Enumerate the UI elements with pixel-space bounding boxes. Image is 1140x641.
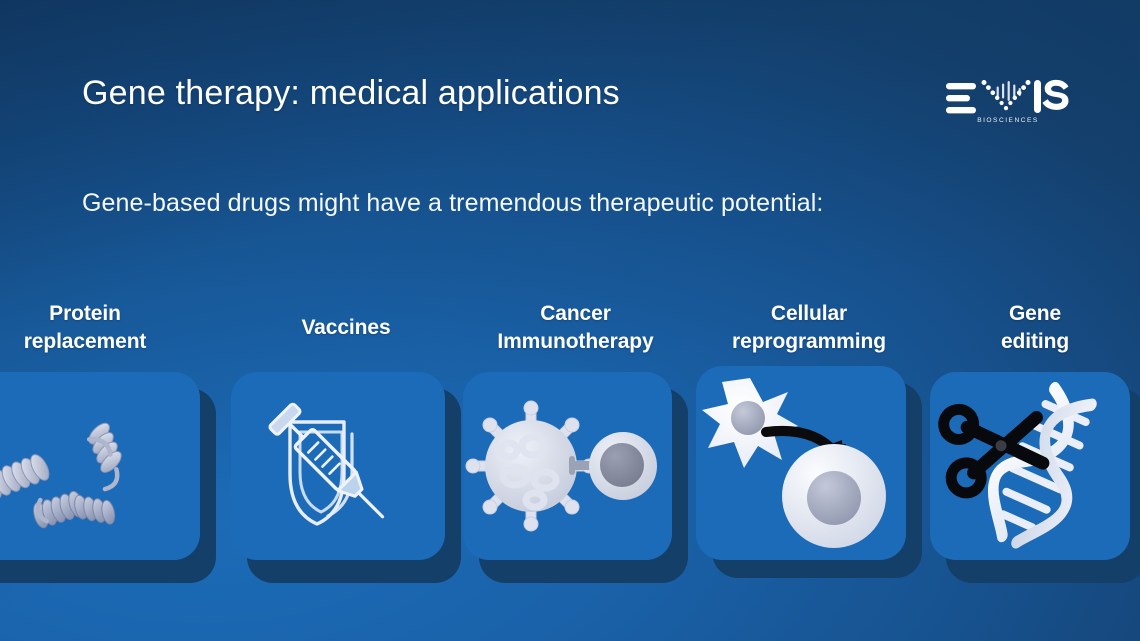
subtitle-text: Gene-based drugs might have a tremendous… xyxy=(82,189,823,218)
card-vaccines[interactable]: Vaccines xyxy=(231,300,461,590)
card-label-gene-editing: Gene editing xyxy=(930,300,1140,355)
cell-transform-arrow-icon xyxy=(696,366,906,560)
card-label-line1: Protein xyxy=(49,302,121,325)
card-label-line2: reprogramming xyxy=(732,330,886,353)
card-label-line2: replacement xyxy=(24,330,147,353)
card-label-line1: Gene xyxy=(1009,302,1061,325)
card-cancer-immunotherapy[interactable]: Cancer Immunotherapy xyxy=(463,300,688,590)
card-label-line1: Vaccines xyxy=(301,316,390,339)
card-label-line1: Cancer xyxy=(540,302,611,325)
card-gene-editing[interactable]: Gene editing xyxy=(930,300,1140,590)
card-label-protein-replacement: Protein replacement xyxy=(0,300,216,355)
card-label-vaccines: Vaccines xyxy=(231,314,461,342)
virus-cell-icon xyxy=(463,372,672,560)
card-label-line2: Immunotherapy xyxy=(497,330,653,353)
card-face[interactable] xyxy=(696,366,906,560)
shield-syringe-icon xyxy=(231,372,445,560)
card-cellular-reprogramming[interactable]: Cellular reprogramming xyxy=(696,300,922,590)
card-face[interactable] xyxy=(0,372,200,560)
card-face[interactable] xyxy=(463,372,672,560)
applications-card-row: Protein replacement xyxy=(0,300,1140,600)
card-label-cancer-immunotherapy: Cancer Immunotherapy xyxy=(463,300,688,355)
scissors-dna-icon xyxy=(930,372,1130,560)
evis-biosciences-logo: BIOSCIENCES xyxy=(944,70,1072,128)
logo-tagline: BIOSCIENCES xyxy=(977,117,1039,124)
card-protein-replacement[interactable]: Protein replacement xyxy=(0,300,216,590)
slide-canvas: Gene therapy: medical applications xyxy=(0,0,1140,641)
card-label-line1: Cellular xyxy=(771,302,847,325)
card-label-cellular-reprogramming: Cellular reprogramming xyxy=(696,300,922,355)
card-face[interactable] xyxy=(930,372,1130,560)
card-label-line2: editing xyxy=(1001,330,1069,353)
card-face[interactable] xyxy=(231,372,445,560)
page-title: Gene therapy: medical applications xyxy=(82,74,620,113)
protein-ribbon-icon xyxy=(0,372,200,560)
